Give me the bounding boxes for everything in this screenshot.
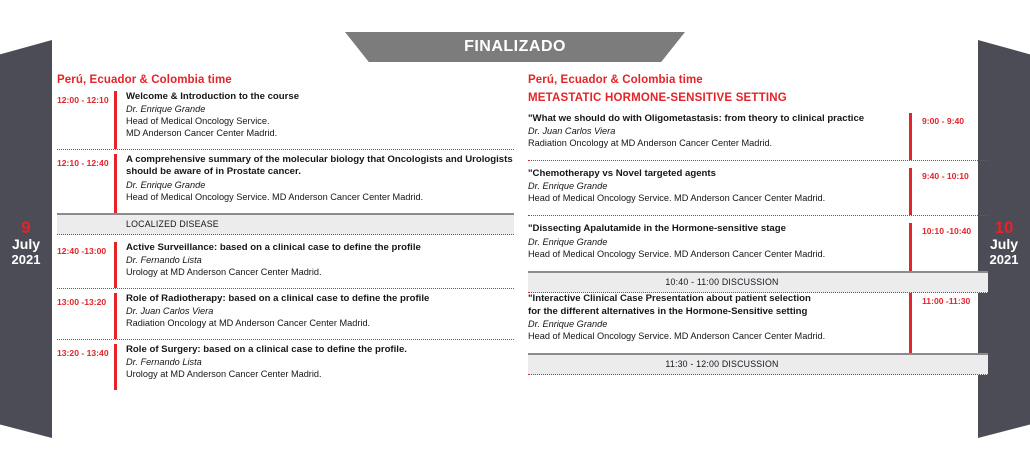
session-row: "What we should do with Oligometastasis:…: [528, 113, 988, 160]
session-row: "Chemotherapy vs Novel targeted agents D…: [528, 160, 988, 215]
session-time: 12:10 - 12:40: [57, 154, 114, 212]
session-time: 12:40 -13:00: [57, 242, 114, 288]
session-affiliation: Urology at MD Anderson Cancer Center Mad…: [126, 267, 514, 279]
discussion-band-2: 11:30 - 12:00 DISCUSSION: [528, 353, 988, 375]
red-rule: [114, 344, 117, 390]
discussion-label: 10:40 - 11:00 DISCUSSION: [665, 277, 778, 287]
session-row: 13:00 -13:20 Role of Radiotherapy: based…: [57, 288, 514, 339]
session-time: 9:00 - 9:40: [922, 113, 988, 160]
red-rule: [114, 154, 117, 212]
session-speaker: Dr. Enrique Grande: [126, 104, 514, 116]
session-row: "Dissecting Apalutamide in the Hormone-s…: [528, 215, 988, 270]
agenda-column-day2: Perú, Ecuador & Colombia time METASTATIC…: [528, 74, 988, 375]
session-title: "Dissecting Apalutamide in the Hormone-s…: [528, 223, 901, 235]
day-number-left: 9: [0, 218, 52, 237]
session-title: Role of Radiotherapy: based on a clinica…: [126, 293, 514, 305]
session-row: 13:20 - 13:40 Role of Surgery: based on …: [57, 339, 514, 390]
session-title: Role of Surgery: based on a clinical cas…: [126, 344, 514, 356]
discussion-band-1: 10:40 - 11:00 DISCUSSION: [528, 271, 988, 293]
session-time: 13:00 -13:20: [57, 293, 114, 339]
session-speaker: Dr. Fernando Lista: [126, 357, 514, 369]
agenda-column-day1: Perú, Ecuador & Colombia time 12:00 - 12…: [57, 74, 514, 390]
session-speaker: Dr. Enrique Grande: [126, 180, 514, 192]
session-title-line2: for the different alternatives in the Ho…: [528, 306, 901, 318]
session-time: 11:00 -11:30: [922, 293, 988, 353]
session-speaker: Dr. Enrique Grande: [528, 181, 901, 193]
session-affiliation: Head of Medical Oncology Service. MD And…: [528, 193, 901, 205]
day-panel-left: 9 July 2021: [0, 40, 52, 438]
session-affiliation: Head of Medical Oncology Service.: [126, 116, 514, 128]
day-year-left: 2021: [0, 253, 52, 268]
timezone-title-left: Perú, Ecuador & Colombia time: [57, 74, 514, 86]
session-speaker: Dr. Fernando Lista: [126, 255, 514, 267]
session-affiliation: Head of Medical Oncology Service. MD And…: [528, 331, 901, 343]
session-affiliation-2: MD Anderson Cancer Center Madrid.: [126, 128, 514, 140]
session-row: "Interactive Clinical Case Presentation …: [528, 293, 988, 353]
session-row: 12:40 -13:00 Active Surveillance: based …: [57, 242, 514, 288]
red-rule: [909, 113, 912, 160]
session-time: 13:20 - 13:40: [57, 344, 114, 390]
section-band-label: LOCALIZED DISEASE: [126, 219, 219, 229]
red-rule: [909, 293, 912, 353]
session-affiliation: Head of Medical Oncology Service. MD And…: [528, 249, 901, 261]
agenda-poster: FINALIZADO 9 July 2021 10 July 2021 Perú…: [0, 0, 1030, 450]
session-speaker: Dr. Juan Carlos Viera: [528, 126, 901, 138]
discussion-label: 11:30 - 12:00 DISCUSSION: [665, 359, 778, 369]
session-affiliation: Head of Medical Oncology Service. MD And…: [126, 192, 514, 204]
status-banner-label: FINALIZADO: [464, 38, 566, 56]
session-speaker: Dr. Enrique Grande: [528, 319, 901, 331]
session-speaker: Dr. Juan Carlos Viera: [126, 306, 514, 318]
session-time: 10:10 -10:40: [922, 223, 988, 270]
session-title: "What we should do with Oligometastasis:…: [528, 113, 901, 125]
red-rule: [909, 223, 912, 270]
section-band-localized-disease: LOCALIZED DISEASE: [57, 213, 514, 235]
spacer: [57, 235, 514, 242]
red-rule: [114, 293, 117, 339]
session-speaker: Dr. Enrique Grande: [528, 237, 901, 249]
red-rule: [909, 168, 912, 215]
session-affiliation: Radiation Oncology at MD Anderson Cancer…: [528, 138, 901, 150]
session-title: Active Surveillance: based on a clinical…: [126, 242, 514, 254]
session-title: A comprehensive summary of the molecular…: [126, 154, 514, 179]
status-banner: FINALIZADO: [345, 32, 685, 62]
session-row: 12:10 - 12:40 A comprehensive summary of…: [57, 149, 514, 212]
session-affiliation: Radiation Oncology at MD Anderson Cancer…: [126, 318, 514, 330]
session-title: "Chemotherapy vs Novel targeted agents: [528, 168, 901, 180]
session-affiliation: Urology at MD Anderson Cancer Center Mad…: [126, 369, 514, 381]
section-title-metastatic: METASTATIC HORMONE-SENSITIVE SETTING: [528, 92, 988, 104]
day-month-left: July: [0, 237, 52, 253]
red-rule: [114, 91, 117, 149]
session-row: 12:00 - 12:10 Welcome & Introduction to …: [57, 91, 514, 149]
session-time: 12:00 - 12:10: [57, 91, 114, 149]
session-time: 9:40 - 10:10: [922, 168, 988, 215]
red-rule: [114, 242, 117, 288]
timezone-title-right: Perú, Ecuador & Colombia time: [528, 74, 988, 86]
session-title: "Interactive Clinical Case Presentation …: [528, 293, 901, 305]
session-title: Welcome & Introduction to the course: [126, 91, 514, 103]
